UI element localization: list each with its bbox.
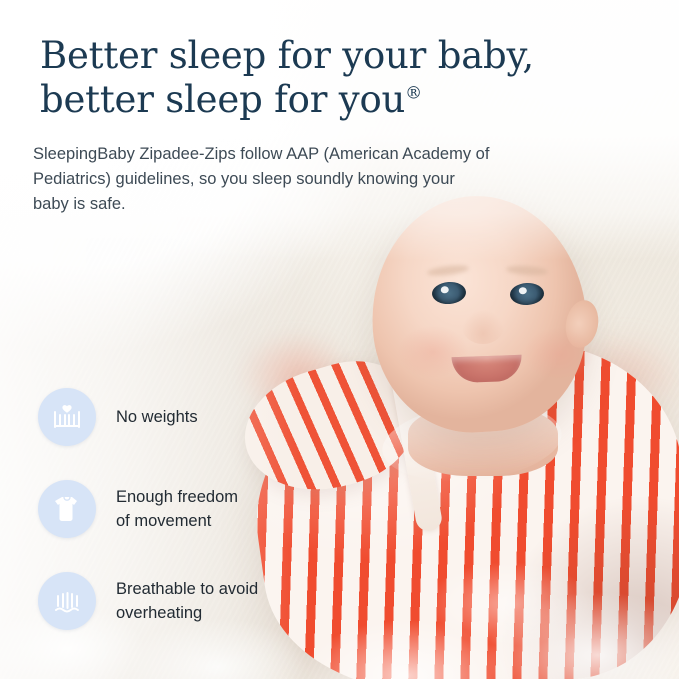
feature-label-breathable: Breathable to avoid overheating [116,577,258,625]
feature-label-no-weights: No weights [116,405,198,429]
feature-list: No weights Enough freedom of movement [38,388,368,664]
product-feature-image: Better sleep for your baby, better sleep… [0,0,679,679]
feature-item-no-weights: No weights [38,388,368,446]
headline: Better sleep for your baby, better sleep… [40,34,560,122]
crib-icon [38,388,96,446]
feature-label-line-1: Breathable to avoid [116,580,258,598]
feature-label-line-2: overheating [116,601,258,625]
feature-label-line-2: of movement [116,509,238,533]
headline-line-2: better sleep for you [40,78,405,121]
feature-label-line-1: No weights [116,408,198,426]
headline-line-1: Better sleep for your baby, [40,34,534,77]
onesie-icon [38,480,96,538]
feature-item-freedom-of-movement: Enough freedom of movement [38,480,368,538]
subheadline: SleepingBaby Zipadee-Zips follow AAP (Am… [33,142,493,217]
breathable-waves-icon [38,572,96,630]
registered-trademark-symbol: ® [405,84,422,104]
feature-label-freedom-of-movement: Enough freedom of movement [116,485,238,533]
feature-label-line-1: Enough freedom [116,488,238,506]
baby-nose [462,310,504,344]
baby-cheek-right [524,328,594,380]
feature-item-breathable: Breathable to avoid overheating [38,572,368,630]
